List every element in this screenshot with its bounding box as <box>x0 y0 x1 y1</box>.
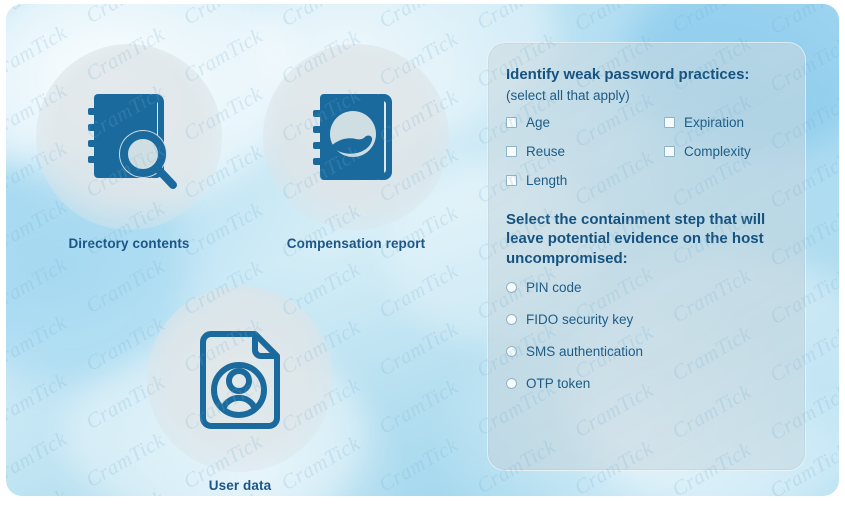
checkbox-icon[interactable] <box>506 117 517 128</box>
checkbox-label: Age <box>526 115 550 130</box>
question2-options: PIN code FIDO security key SMS authentic… <box>506 280 787 391</box>
option-card-label: Compensation report <box>246 236 466 251</box>
document-user-icon <box>147 286 333 472</box>
screenshot-root: Directory contents C <box>0 0 845 507</box>
checkbox-icon[interactable] <box>664 146 675 157</box>
option-card-label: User data <box>130 478 350 493</box>
checkbox-icon[interactable] <box>664 117 675 128</box>
question1-options: Age Expiration Reuse Complexity Length <box>506 115 787 188</box>
radio-option-sms-authentication[interactable]: SMS authentication <box>506 344 787 359</box>
checkbox-option-reuse[interactable]: Reuse <box>506 144 664 159</box>
checkbox-option-complexity[interactable]: Complexity <box>664 144 787 159</box>
question-panel: Identify weak password practices: (selec… <box>487 42 806 471</box>
radio-option-otp-token[interactable]: OTP token <box>506 376 787 391</box>
radio-option-pin-code[interactable]: PIN code <box>506 280 787 295</box>
watermark-text: CramTickCramTickCramTickCramTickCramTick… <box>6 4 839 26</box>
checkbox-option-age[interactable]: Age <box>506 115 664 130</box>
option-card-user-data[interactable]: User data <box>130 286 350 493</box>
option-card-directory-contents[interactable]: Directory contents <box>19 44 239 251</box>
notebook-hand-icon <box>263 44 449 230</box>
radio-label: OTP token <box>526 376 590 391</box>
checkbox-icon[interactable] <box>506 146 517 157</box>
notebook-search-icon <box>36 44 222 230</box>
radio-label: FIDO security key <box>526 312 633 327</box>
radio-label: SMS authentication <box>526 344 643 359</box>
checkbox-icon[interactable] <box>506 175 517 186</box>
radio-icon[interactable] <box>506 282 517 293</box>
radio-label: PIN code <box>526 280 582 295</box>
checkbox-label: Length <box>526 173 567 188</box>
radio-option-fido-security-key[interactable]: FIDO security key <box>506 312 787 327</box>
checkbox-option-length[interactable]: Length <box>506 173 664 188</box>
question2-title: Select the containment step that will le… <box>506 210 787 270</box>
checkbox-option-expiration[interactable]: Expiration <box>664 115 787 130</box>
checkbox-label: Reuse <box>526 144 565 159</box>
question1-title: Identify weak password practices: <box>506 65 787 85</box>
option-card-compensation-report[interactable]: Compensation report <box>246 44 466 251</box>
radio-icon[interactable] <box>506 378 517 389</box>
watercolor-background: Directory contents C <box>6 4 839 496</box>
question1-subtitle: (select all that apply) <box>506 88 787 103</box>
radio-icon[interactable] <box>506 314 517 325</box>
checkbox-label: Expiration <box>684 115 744 130</box>
option-card-label: Directory contents <box>19 236 239 251</box>
radio-icon[interactable] <box>506 346 517 357</box>
checkbox-label: Complexity <box>684 144 751 159</box>
